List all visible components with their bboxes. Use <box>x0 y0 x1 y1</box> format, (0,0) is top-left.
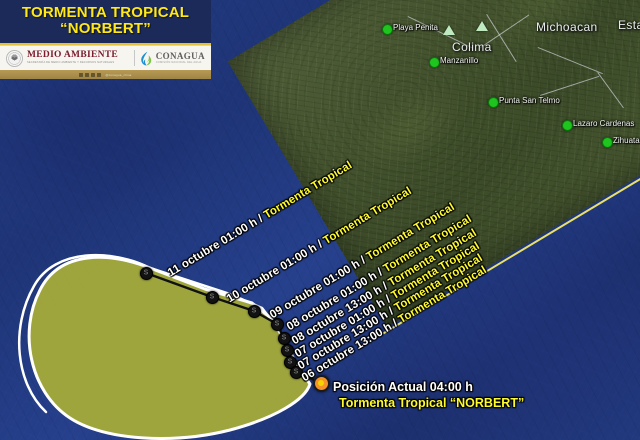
volcano-icon <box>476 21 488 31</box>
city-dot-icon <box>602 137 613 148</box>
place-name-label: Zihuatanejo <box>613 136 640 145</box>
track-point[interactable] <box>206 291 219 304</box>
medio-ambiente-sublabel: SECRETARÍA DE MEDIO AMBIENTE Y RECURSOS … <box>27 62 118 65</box>
place-name-label: Lazaro Cardenas <box>573 119 634 128</box>
conagua-label: CONAGUA <box>156 52 205 61</box>
city-dot-icon <box>562 120 573 131</box>
volcano-icon <box>443 25 455 35</box>
current-position-time: Posición Actual 04:00 h <box>333 380 524 394</box>
current-position-marker[interactable] <box>313 375 330 392</box>
social-media-bar: @conagua_clima <box>0 70 211 79</box>
region-name-label: Colima <box>452 40 492 54</box>
track-point[interactable] <box>278 332 291 345</box>
storm-forecast-map: SSSSSSSS 11 octubre 01:00 h / Tormenta T… <box>0 0 640 440</box>
current-position-legend: Posición Actual 04:00 h Tormenta Tropica… <box>333 380 524 410</box>
city-dot-icon <box>382 24 393 35</box>
medio-ambiente-text: MEDIO AMBIENTE SECRETARÍA DE MEDIO AMBIE… <box>27 51 118 65</box>
banner-title-block: TORMENTA TROPICAL “NORBERT” <box>0 0 211 45</box>
medio-ambiente-logo: MEDIO AMBIENTE SECRETARÍA DE MEDIO AMBIE… <box>6 50 129 67</box>
agency-logo-bar: MEDIO AMBIENTE SECRETARÍA DE MEDIO AMBIE… <box>0 45 211 70</box>
twitter-icon[interactable] <box>85 73 89 77</box>
place-name-label: Playa Penita <box>393 23 438 32</box>
track-point[interactable] <box>281 344 294 357</box>
facebook-icon[interactable] <box>79 73 83 77</box>
current-position-name: Tormenta Tropical “NORBERT” <box>339 396 524 410</box>
track-point[interactable] <box>140 267 153 280</box>
storm-type-title: TORMENTA TROPICAL <box>6 5 205 21</box>
region-name-label: Michoacan <box>536 20 598 34</box>
conagua-water-icon <box>140 51 153 66</box>
instagram-icon[interactable] <box>91 73 95 77</box>
medio-ambiente-label: MEDIO AMBIENTE <box>27 51 118 61</box>
city-dot-icon <box>488 97 499 108</box>
social-handle: @conagua_clima <box>105 73 131 77</box>
mexico-seal-icon <box>6 50 23 67</box>
youtube-icon[interactable] <box>97 73 101 77</box>
conagua-sublabel: COMISIÓN NACIONAL DEL AGUA <box>156 62 205 65</box>
place-name-label: Punta San Telmo <box>499 96 560 105</box>
region-name-label: Estado <box>618 18 640 32</box>
conagua-text: CONAGUA COMISIÓN NACIONAL DEL AGUA <box>156 52 205 65</box>
logo-divider <box>134 50 135 66</box>
track-point[interactable] <box>248 305 261 318</box>
header-banner: TORMENTA TROPICAL “NORBERT” MEDIO AMBIEN… <box>0 0 211 79</box>
place-name-label: Manzanillo <box>440 56 478 65</box>
conagua-logo: CONAGUA COMISIÓN NACIONAL DEL AGUA <box>140 51 205 66</box>
city-dot-icon <box>429 57 440 68</box>
storm-name-title: “NORBERT” <box>6 21 205 38</box>
